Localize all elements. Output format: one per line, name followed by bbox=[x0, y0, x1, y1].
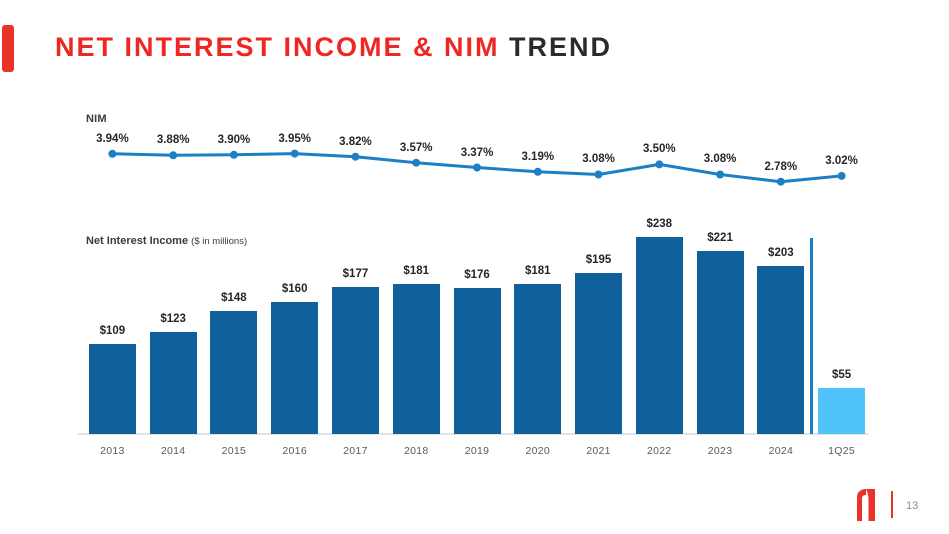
bar-2016 bbox=[271, 302, 318, 434]
bar-value-label-2020: $181 bbox=[525, 265, 551, 277]
bar-value-label-2018: $181 bbox=[403, 265, 429, 277]
bar-value-label-2017: $177 bbox=[343, 268, 369, 280]
bar-value-label-1Q25: $55 bbox=[832, 369, 851, 381]
x-axis-label-1Q25: 1Q25 bbox=[828, 445, 855, 457]
slide-canvas: NET INTEREST INCOME & NIM TREND NIM 3.94… bbox=[0, 0, 949, 534]
bar-value-label-2022: $238 bbox=[647, 218, 673, 230]
x-axis-label-2017: 2017 bbox=[343, 445, 368, 457]
bar-2022 bbox=[636, 237, 683, 434]
footer-divider bbox=[891, 491, 893, 518]
x-axis-label-2020: 2020 bbox=[525, 445, 550, 457]
x-axis-label-2018: 2018 bbox=[404, 445, 429, 457]
x-axis-label-2013: 2013 bbox=[100, 445, 125, 457]
x-axis-label-2022: 2022 bbox=[647, 445, 672, 457]
bar-2017 bbox=[332, 287, 379, 434]
slide-footer: 13 bbox=[853, 489, 949, 527]
bar-value-label-2015: $148 bbox=[221, 292, 247, 304]
bar-2019 bbox=[454, 288, 501, 434]
bar-value-label-2021: $195 bbox=[586, 254, 612, 266]
bar-value-label-2023: $221 bbox=[707, 232, 733, 244]
x-axis-label-2014: 2014 bbox=[161, 445, 186, 457]
x-axis-label-2019: 2019 bbox=[465, 445, 490, 457]
x-axis-label-2015: 2015 bbox=[222, 445, 247, 457]
bar-2013 bbox=[89, 344, 136, 434]
bar-value-label-2019: $176 bbox=[464, 269, 490, 281]
period-divider-line bbox=[810, 238, 813, 434]
bar-1Q25 bbox=[818, 388, 865, 434]
bar-2018 bbox=[393, 284, 440, 434]
x-axis-label-2016: 2016 bbox=[282, 445, 307, 457]
bar-2020 bbox=[514, 284, 561, 434]
page-number: 13 bbox=[906, 500, 918, 512]
bar-value-label-2014: $123 bbox=[160, 313, 186, 325]
bar-2024 bbox=[757, 266, 804, 434]
bar-value-label-2016: $160 bbox=[282, 283, 308, 295]
bar-2023 bbox=[697, 251, 744, 434]
bar-value-label-2024: $203 bbox=[768, 247, 794, 259]
bar-2015 bbox=[210, 311, 257, 434]
x-axis-label-2024: 2024 bbox=[769, 445, 794, 457]
x-axis-label-2023: 2023 bbox=[708, 445, 733, 457]
bar-2021 bbox=[575, 273, 622, 434]
bar-chart-plot: $1092013$1232014$1482015$1602016$1772017… bbox=[0, 0, 949, 534]
bar-2014 bbox=[150, 332, 197, 434]
x-axis-label-2021: 2021 bbox=[586, 445, 611, 457]
bar-value-label-2013: $109 bbox=[100, 325, 126, 337]
company-logo-icon bbox=[853, 489, 883, 521]
